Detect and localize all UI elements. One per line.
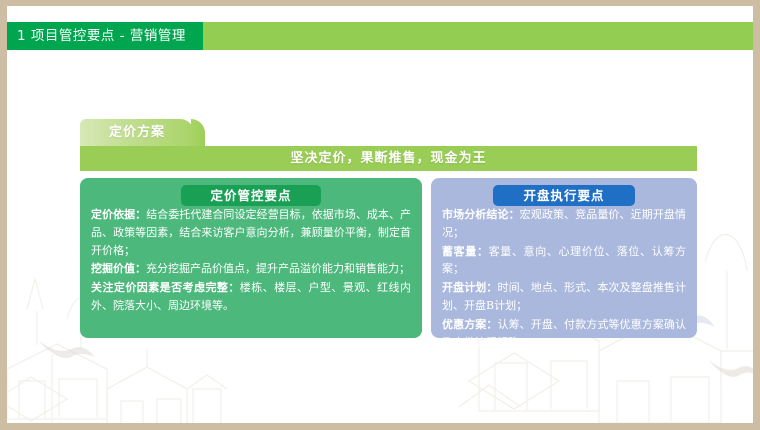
slogan-banner: 坚决定价，果断推售，现金为王 — [80, 146, 697, 171]
list-item-term: 关注定价因素是否考虑完整： — [91, 281, 240, 294]
list-item: 定价依据：结合委托代建合同设定经营目标，依据市场、成本、产品、政策等因素，结合来… — [91, 206, 411, 259]
panel-launch-execution: 开盘执行要点 市场分析结论：宏观政策、竞品量价、近期开盘情况； 蓄客量：客量、意… — [431, 178, 697, 338]
list-item: 优惠方案：认筹、开盘、付款方式等优惠方案确认及审批流程明确。 — [442, 316, 686, 352]
list-item-term: 定价依据： — [91, 208, 146, 221]
section-tab-pricing-plan[interactable]: 定价方案 — [80, 119, 194, 146]
list-item: 蓄客量：客量、意向、心理价位、落位、认筹方案； — [442, 243, 686, 279]
swallow-icon-left — [37, 335, 97, 365]
list-item: 挖掘价值：充分挖掘产品价值点，提升产品溢价能力和销售能力； — [91, 260, 411, 278]
panel-body-pricing-control: 定价依据：结合委托代建合同设定经营目标，依据市场、成本、产品、政策等因素，结合来… — [91, 206, 411, 315]
slide-frame: 1 项目管控要点 - 营销管理 定价方案 坚决定价，果断推售，现金为王 定价管控… — [0, 0, 760, 430]
list-item-text: 充分挖掘产品价值点，提升产品溢价能力和销售能力； — [146, 262, 410, 275]
list-item: 市场分析结论：宏观政策、竞品量价、近期开盘情况； — [442, 206, 686, 242]
panel-badge-launch-execution: 开盘执行要点 — [493, 185, 635, 206]
list-item-term: 优惠方案： — [442, 318, 497, 331]
panel-badge-pricing-control: 定价管控要点 — [181, 185, 321, 206]
list-item: 开盘计划：时间、地点、形式、本次及整盘推售计划、开盘B计划； — [442, 279, 686, 315]
swallow-icon-corner — [707, 355, 753, 383]
page-title: 1 项目管控要点 - 营销管理 — [7, 22, 203, 50]
panel-pricing-control: 定价管控要点 定价依据：结合委托代建合同设定经营目标，依据市场、成本、产品、政策… — [80, 178, 422, 338]
list-item-term: 市场分析结论： — [442, 208, 520, 221]
slide-canvas: 1 项目管控要点 - 营销管理 定价方案 坚决定价，果断推售，现金为王 定价管控… — [7, 6, 753, 423]
list-item-term: 挖掘价值： — [91, 262, 146, 275]
panel-body-launch-execution: 市场分析结论：宏观政策、竞品量价、近期开盘情况； 蓄客量：客量、意向、心理价位、… — [442, 206, 686, 352]
list-item: 关注定价因素是否考虑完整：楼栋、楼层、户型、景观、红线内外、院落大小、周边环境等… — [91, 279, 411, 315]
slide-header-bar: 1 项目管控要点 - 营销管理 — [7, 22, 753, 50]
list-item-term: 开盘计划： — [442, 281, 497, 294]
list-item-term: 蓄客量： — [442, 245, 489, 258]
